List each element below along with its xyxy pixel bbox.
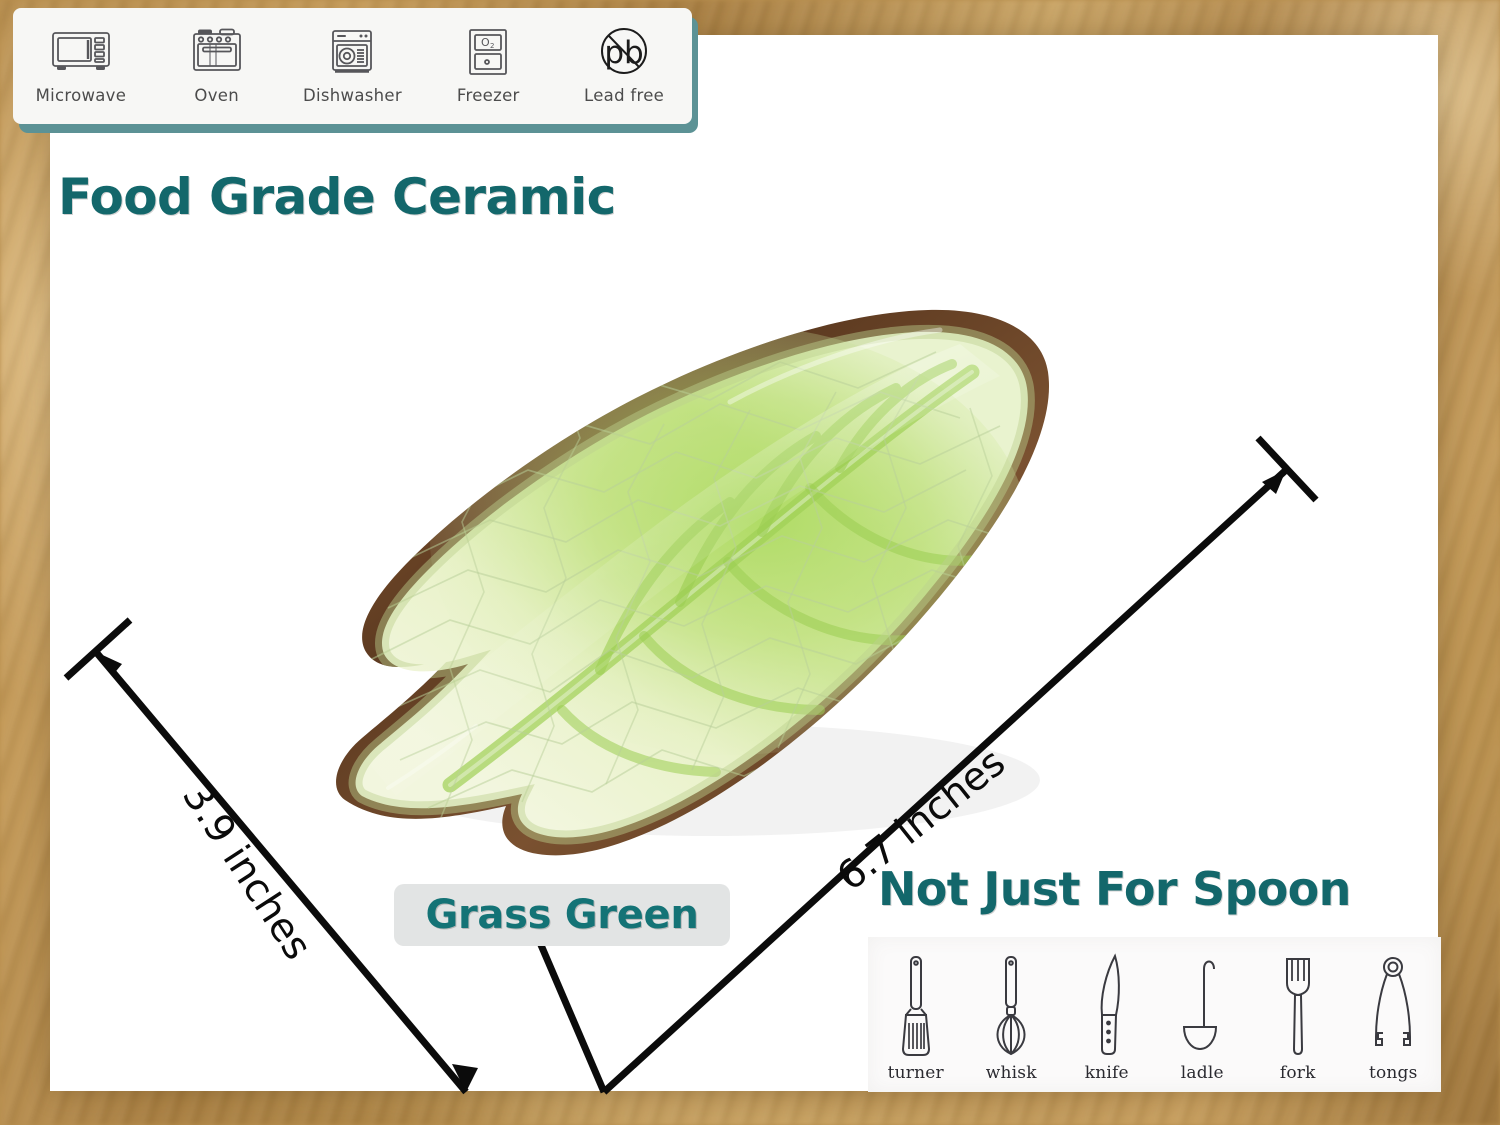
utensil-compatibility-panel: turner whisk (868, 937, 1441, 1092)
badge-label: Dishwasher (303, 86, 402, 105)
utensil-label: tongs (1369, 1063, 1418, 1083)
lead-free-icon: pb (596, 16, 652, 88)
page-title-food-grade: Food Grade Ceramic (58, 172, 616, 222)
badge-freezer: O 2 Freezer (432, 16, 544, 105)
color-variant-badge: Grass Green (394, 884, 730, 946)
utensil-fork: fork (1252, 949, 1344, 1092)
utensil-label: ladle (1181, 1063, 1224, 1083)
freezer-icon: O 2 (466, 16, 510, 88)
fork-icon (1275, 949, 1321, 1061)
utensil-whisk: whisk (965, 949, 1057, 1092)
utensil-label: fork (1280, 1063, 1316, 1083)
badge-label: Freezer (457, 86, 520, 105)
utensil-label: knife (1085, 1063, 1129, 1083)
turner-icon (893, 949, 939, 1061)
badge-strip-panel: Microwave (13, 8, 692, 124)
utensil-ladle: ladle (1156, 949, 1248, 1092)
utensil-label: turner (888, 1063, 944, 1083)
infographic-canvas: 3.9 inches 6.7 inches (0, 0, 1500, 1125)
feature-badge-strip: Microwave (13, 8, 698, 133)
utensil-tongs: tongs (1347, 949, 1439, 1092)
section-title-not-just-spoon: Not Just For Spoon (878, 866, 1351, 912)
badge-label: Lead free (584, 86, 664, 105)
whisk-icon (988, 949, 1034, 1061)
utensil-label: whisk (986, 1063, 1037, 1083)
badge-label: Microwave (36, 86, 127, 105)
dishwasher-icon (328, 16, 376, 88)
svg-text:pb: pb (604, 35, 643, 71)
color-variant-label: Grass Green (425, 892, 698, 938)
svg-text:O: O (481, 36, 490, 49)
badge-microwave: Microwave (25, 16, 137, 105)
badge-oven: Oven (161, 16, 273, 105)
badge-lead-free: pb Lead free (568, 16, 680, 105)
oven-icon (188, 16, 246, 88)
tongs-icon (1367, 949, 1419, 1061)
microwave-icon (50, 16, 112, 88)
badge-label: Oven (194, 86, 239, 105)
utensil-knife: knife (1061, 949, 1153, 1092)
badge-dishwasher: Dishwasher (296, 16, 408, 105)
svg-text:2: 2 (490, 42, 494, 50)
knife-icon (1084, 949, 1130, 1061)
utensil-turner: turner (870, 949, 962, 1092)
ladle-icon (1176, 949, 1228, 1061)
